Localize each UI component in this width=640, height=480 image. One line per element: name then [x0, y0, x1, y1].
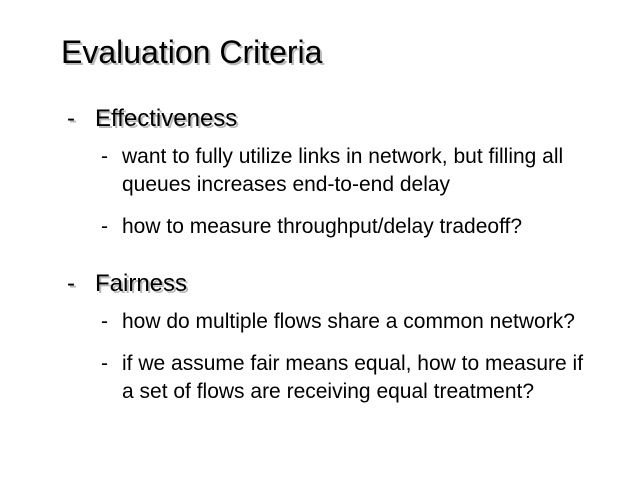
- bullet-level1-label: Effectiveness: [95, 105, 237, 132]
- bullet-dash-icon: -: [101, 213, 108, 241]
- bullet-level2-label: how to measure throughput/delay tradeoff…: [122, 213, 592, 241]
- section-divider: [0, 255, 640, 269]
- bullet-level1-label: Fairness: [95, 270, 187, 297]
- bullet-level1-fairness: - Fairness: [0, 269, 640, 299]
- bullet-level2-label: how do multiple flows share a common net…: [122, 308, 592, 336]
- bullet-level1-effectiveness: - Effectiveness: [0, 104, 640, 134]
- bullet-dash-icon: -: [101, 350, 108, 378]
- bullet-dash-icon: -: [101, 143, 108, 171]
- bullet-level2-list-fairness: - how do multiple flows share a common n…: [0, 308, 640, 406]
- bullet-dash-icon: -: [67, 104, 75, 134]
- list-item: - if we assume fair means equal, how to …: [0, 350, 640, 406]
- slide-body: - Effectiveness - want to fully utilize …: [0, 104, 640, 420]
- list-item: - how do multiple flows share a common n…: [0, 308, 640, 336]
- bullet-dash-icon: -: [67, 269, 75, 299]
- list-item: - how to measure throughput/delay tradeo…: [0, 213, 640, 241]
- list-item: - want to fully utilize links in network…: [0, 143, 640, 199]
- bullet-level2-label: want to fully utilize links in network, …: [122, 143, 592, 199]
- page-title: Evaluation Criteria: [61, 33, 322, 71]
- bullet-dash-icon: -: [101, 308, 108, 336]
- bullet-level2-label: if we assume fair means equal, how to me…: [122, 350, 592, 406]
- bullet-level2-list-effectiveness: - want to fully utilize links in network…: [0, 143, 640, 241]
- slide: Evaluation Criteria - Effectiveness - wa…: [0, 0, 640, 480]
